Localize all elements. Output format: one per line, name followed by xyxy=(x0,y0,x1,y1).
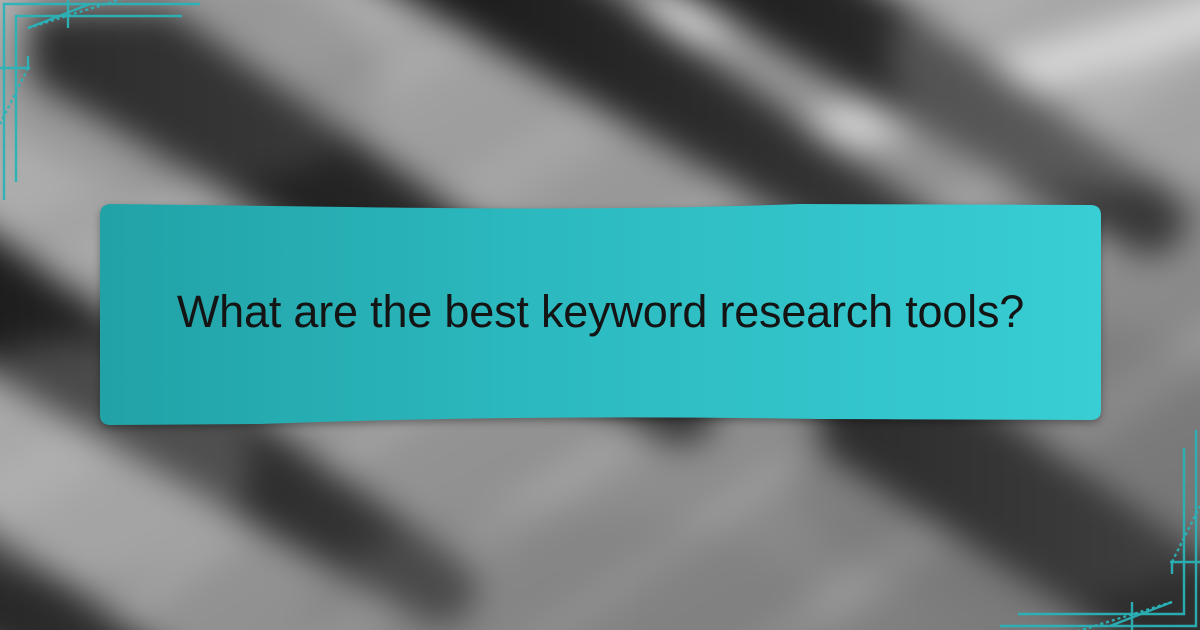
banner-text-container: What are the best keyword research tools… xyxy=(100,198,1101,426)
social-card: What are the best keyword research tools… xyxy=(0,0,1200,630)
question-banner: What are the best keyword research tools… xyxy=(100,198,1101,426)
page-title: What are the best keyword research tools… xyxy=(160,284,1041,341)
